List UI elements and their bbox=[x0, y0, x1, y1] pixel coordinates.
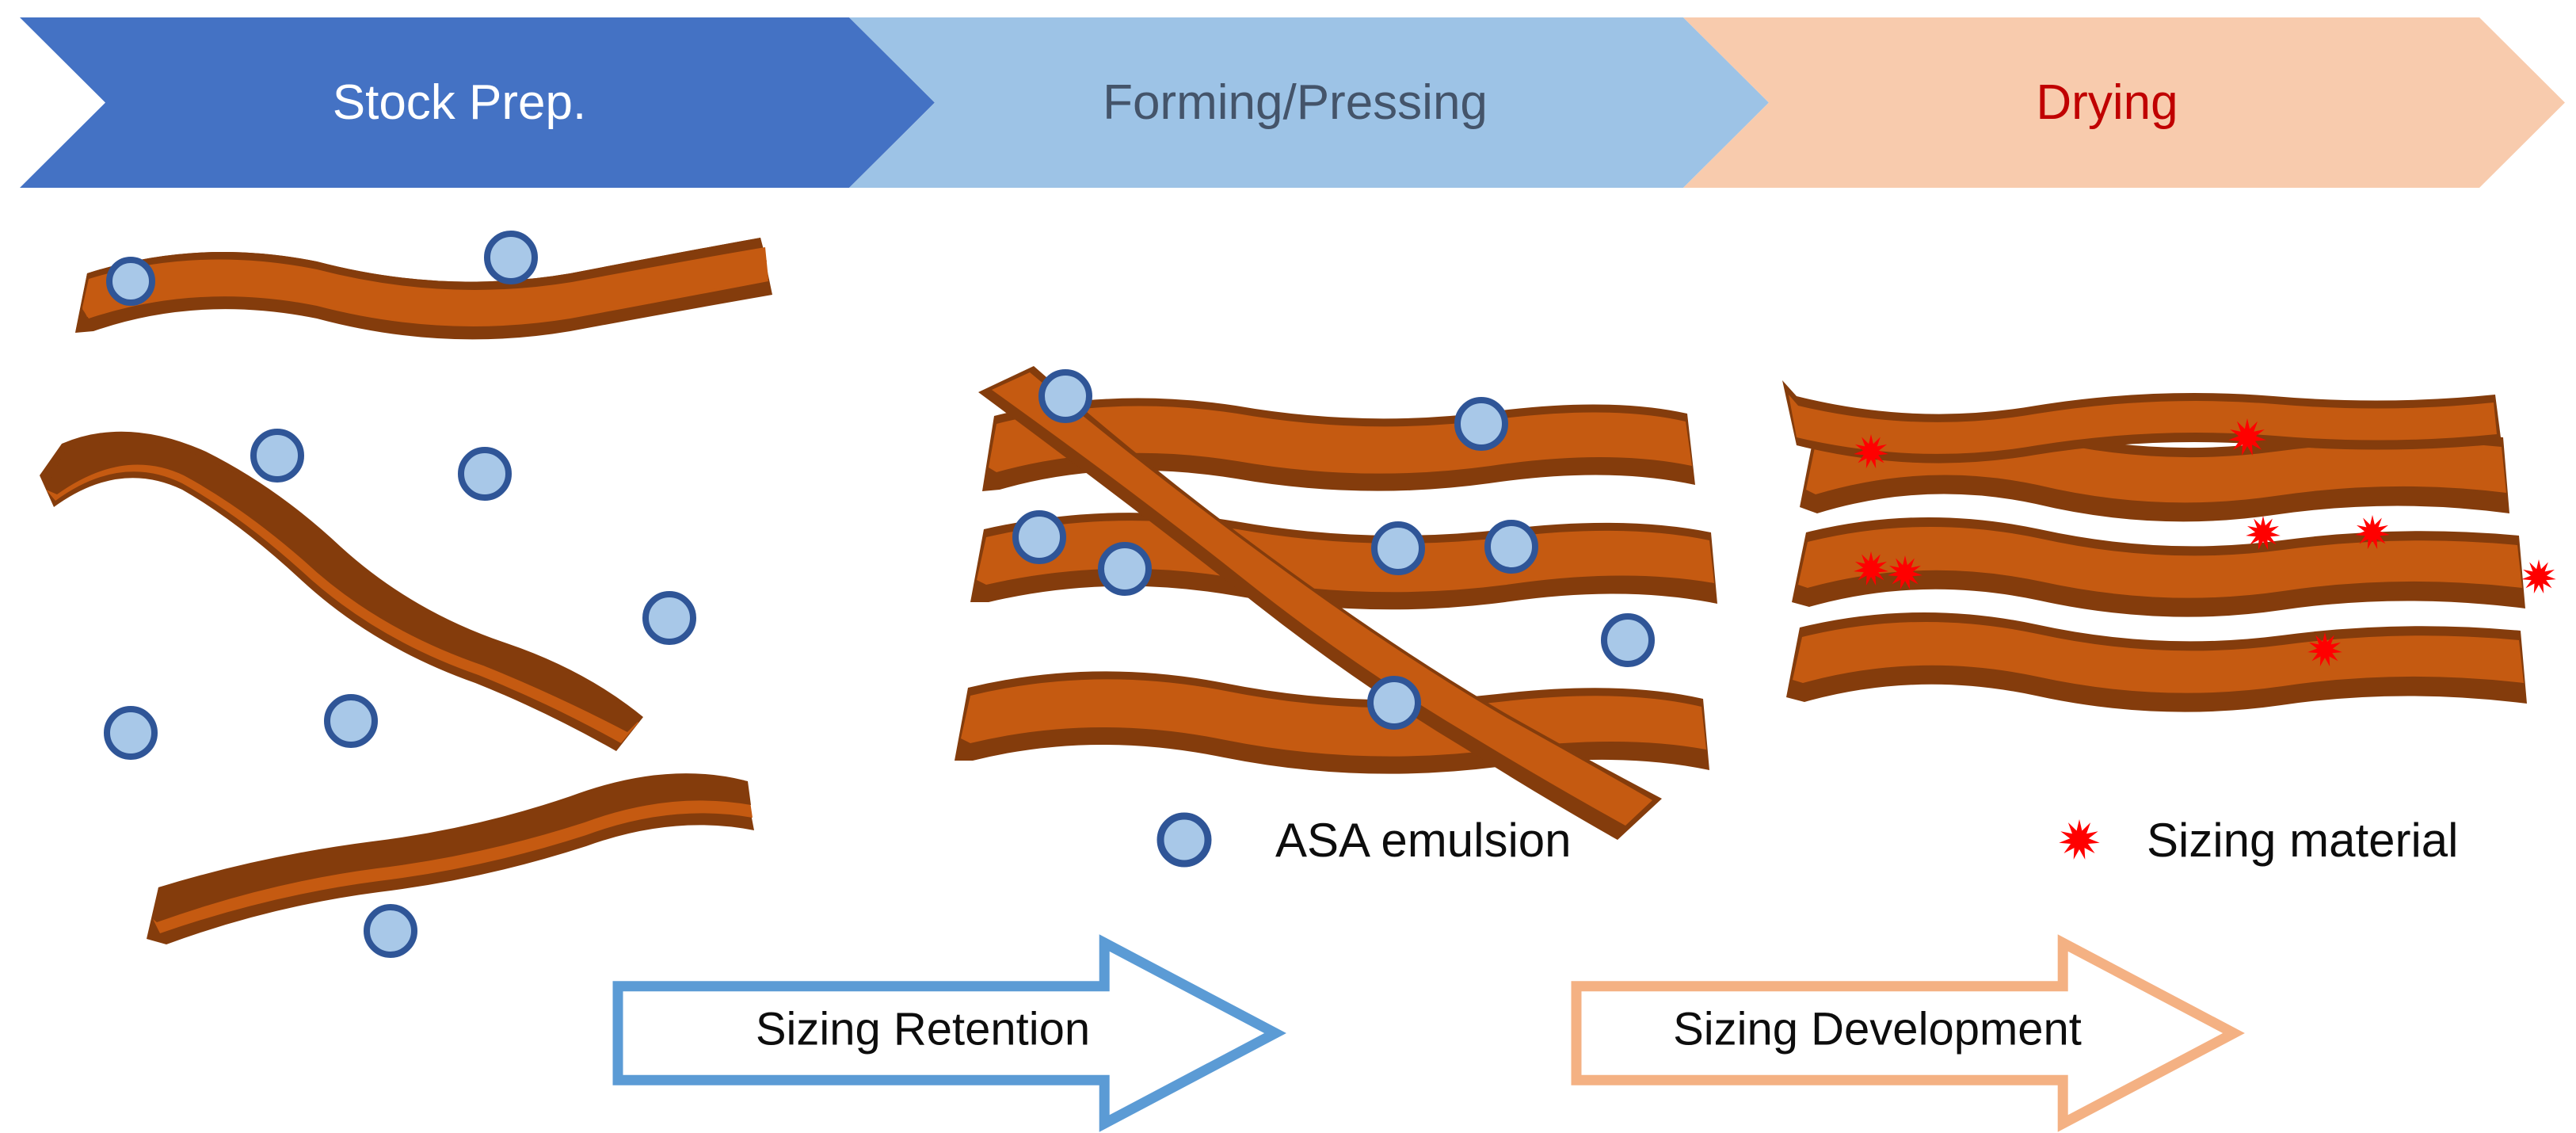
symbol-legend: ASA emulsionSizing material bbox=[1160, 814, 2459, 867]
sizing-process-illustration: ASA emulsionSizing material Sizing Reten… bbox=[0, 0, 2576, 1133]
emulsion-circle-icon bbox=[1458, 400, 1505, 448]
sizing-starburst-icon bbox=[2521, 559, 2556, 593]
legend-label-asa-emulsion: ASA emulsion bbox=[1275, 814, 1572, 867]
emulsion-circle-icon bbox=[107, 709, 154, 757]
emulsion-circle-icon bbox=[1016, 513, 1063, 561]
emulsion-circle-icon bbox=[1488, 523, 1535, 570]
drying-fiber-group bbox=[1782, 380, 2527, 712]
emulsion-circle-icon bbox=[367, 907, 414, 955]
emulsion-circle-icon bbox=[1604, 616, 1652, 664]
emulsion-circle-icon bbox=[1374, 525, 1422, 572]
arrow-label-sizing-retention-arrow: Sizing Retention bbox=[756, 1003, 1090, 1055]
emulsion-circle-icon bbox=[461, 450, 509, 498]
sizing-starburst-icon bbox=[2059, 819, 2099, 860]
arrow-label-sizing-development-arrow: Sizing Development bbox=[1673, 1003, 2082, 1055]
emulsion-circle-icon bbox=[1160, 816, 1208, 864]
emulsion-circle-icon bbox=[109, 260, 152, 303]
emulsion-circle-icon bbox=[1101, 545, 1149, 593]
forming-pressing-fiber-group bbox=[955, 366, 1717, 840]
emulsion-circle-icon bbox=[487, 234, 535, 281]
emulsion-circle-icon bbox=[327, 697, 375, 745]
diagram-canvas: Stock Prep.Forming/PressingDrying bbox=[0, 0, 2576, 1133]
emulsion-circle-icon bbox=[1042, 372, 1089, 420]
emulsion-circle-icon bbox=[646, 594, 693, 642]
legend-label-sizing-material: Sizing material bbox=[2147, 814, 2459, 867]
fiber-shape bbox=[46, 441, 640, 732]
emulsion-circle-icon bbox=[253, 432, 301, 479]
stock-prep-fiber-group bbox=[40, 238, 772, 944]
emulsion-circle-icon bbox=[1370, 679, 1418, 727]
